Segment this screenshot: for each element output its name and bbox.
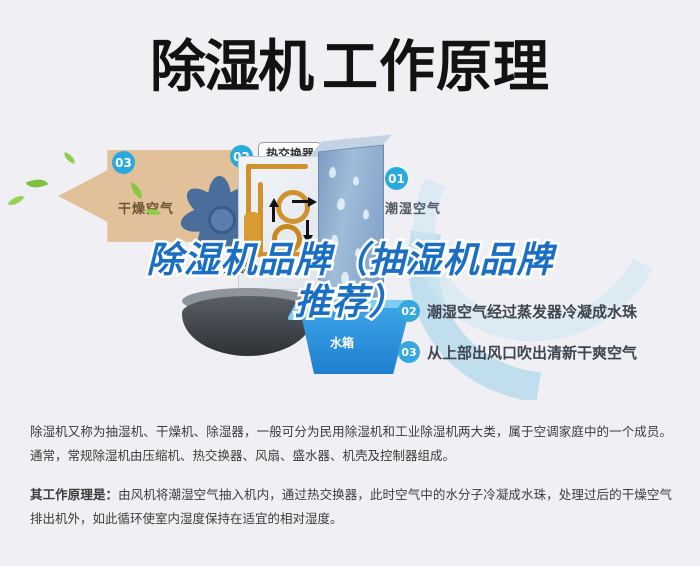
copper-coil-icon (272, 224, 302, 254)
annotation-text: 潮湿空气经过蒸发器冷凝成水珠 (427, 301, 637, 322)
diagram-badge-01: 01 (385, 167, 408, 190)
flow-arrow-right-icon (308, 197, 317, 207)
flow-arrow-up-icon (269, 198, 279, 207)
paragraph-1: 除湿机又称为抽湿机、干燥机、除湿器，一般可分为民用除湿机和工业除湿机两大类，属于… (30, 420, 672, 469)
title-part-1: 除湿机 (150, 35, 312, 100)
flow-arrow-stem (306, 220, 309, 236)
copper-pipe-icon (252, 252, 304, 257)
copper-coil-icon (276, 190, 310, 224)
receiver-tank-icon (244, 212, 260, 252)
paragraph-2-lead: 其工作原理是： (30, 487, 118, 502)
moist-air-label: 潮湿空气 (385, 198, 441, 217)
title-part-2: 工作原理 (322, 35, 550, 100)
annotation-text: 从上部出风口吹出清新干爽空气 (427, 342, 637, 363)
paragraph-2: 其工作原理是：由风机将潮湿空气抽入机内，通过热交换器，此时空气中的水分子冷凝成水… (30, 483, 672, 532)
flow-arrow-stem (272, 206, 275, 222)
page-root: 除湿机工作原理 干燥空气 03 02 01 热交换器 潮湿空气 (0, 0, 700, 566)
page-title: 除湿机工作原理 (0, 22, 700, 114)
title-text: 除湿机工作原理 (150, 40, 550, 96)
annotation-03: 03 从上部出风口吹出清新干爽空气 (398, 341, 637, 363)
annotation-number-badge: 03 (398, 341, 420, 363)
article-body: 除湿机又称为抽湿机、干燥机、除湿器，一般可分为民用除湿机和工业除湿机两大类，属于… (30, 420, 672, 546)
diagram-badge-03: 03 (112, 151, 135, 174)
leaf-icon (7, 191, 24, 209)
evaporator-icon (318, 145, 384, 304)
flow-arrow-down-icon (303, 235, 313, 244)
water-tank-label: 水箱 (330, 334, 354, 351)
flow-arrow-stem (292, 200, 308, 203)
annotation-02: 02 潮湿空气经过蒸发器冷凝成水珠 (398, 300, 637, 322)
dry-air-label: 干燥空气 (118, 198, 174, 217)
annotation-number-badge: 02 (398, 300, 420, 322)
leaf-icon (62, 152, 77, 164)
moist-air-intake-arrow-icon (384, 252, 438, 266)
copper-pipe-icon (246, 164, 308, 169)
leaf-icon (26, 174, 49, 192)
paragraph-2-rest: 由风机将潮湿空气抽入机内，通过热交换器，此时空气中的水分子冷凝成水珠，处理过后的… (30, 487, 672, 526)
compressor-label: 压缩机 (222, 260, 255, 276)
